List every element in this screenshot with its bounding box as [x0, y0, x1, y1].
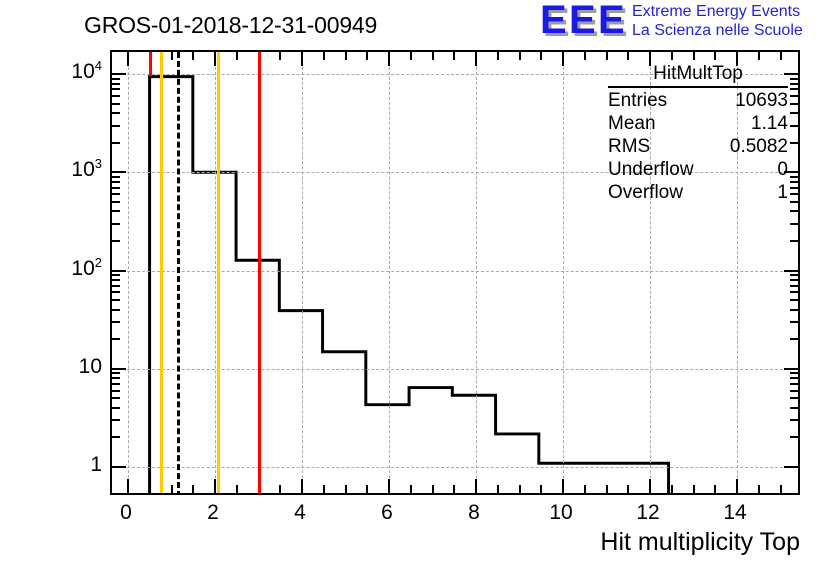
- x-axis-minor-tick: [671, 485, 673, 493]
- y-axis-minor-tick: [790, 279, 798, 281]
- x-axis-major-tick: [127, 479, 129, 493]
- x-axis-minor-tick: [345, 485, 347, 493]
- stats-row: Underflow0: [608, 158, 788, 181]
- y-axis-tick-label: 10: [79, 356, 102, 378]
- gridline-vertical: [389, 52, 390, 493]
- eee-letter-3-fore: E: [598, 3, 624, 37]
- red-line-left: [149, 52, 152, 76]
- y-axis-minor-tick: [790, 274, 798, 276]
- y-axis-minor-tick: [112, 377, 120, 379]
- x-axis-minor-tick: [410, 52, 412, 60]
- y-axis-minor-tick: [790, 383, 798, 385]
- y-axis-minor-tick: [112, 142, 120, 144]
- stats-row-key: Mean: [608, 112, 656, 135]
- x-axis-minor-tick: [519, 485, 521, 493]
- x-axis-minor-tick: [149, 485, 151, 493]
- stats-row-value: 0: [777, 158, 788, 181]
- gridline-vertical: [302, 52, 303, 493]
- plot-canvas: GROS-01-2018-12-31-00949 E E E E E E Ext…: [0, 0, 836, 572]
- eee-letter-1: E E: [540, 3, 565, 37]
- x-axis-tick-label: 10: [549, 502, 572, 524]
- y-axis-minor-tick: [112, 285, 120, 287]
- y-axis-minor-tick: [112, 112, 120, 114]
- y-axis-minor-tick: [790, 240, 798, 242]
- y-axis-minor-tick: [112, 83, 120, 85]
- x-axis-minor-tick: [453, 485, 455, 493]
- y-axis-minor-tick: [112, 291, 120, 293]
- y-axis-minor-tick: [790, 142, 798, 144]
- eee-letter-2-fore: E: [569, 3, 595, 37]
- y-axis-minor-tick: [790, 181, 798, 183]
- y-axis-minor-tick: [790, 112, 798, 114]
- eee-letter-1-fore: E: [540, 3, 566, 37]
- y-axis-minor-tick: [790, 407, 798, 409]
- y-axis-tick-label: 103: [71, 159, 102, 181]
- x-axis-minor-tick: [236, 485, 238, 493]
- y-axis-minor-tick: [112, 201, 120, 203]
- y-axis-minor-tick: [790, 377, 798, 379]
- y-axis-minor-tick: [112, 309, 120, 311]
- eee-logo-text: Extreme Energy Events La Scienza nelle S…: [632, 2, 803, 40]
- x-axis-minor-tick: [497, 485, 499, 493]
- x-axis-minor-tick: [693, 52, 695, 60]
- y-axis-tick-label: 1: [90, 454, 102, 476]
- y-axis-major-tick: [112, 466, 126, 468]
- x-axis-minor-tick: [323, 52, 325, 60]
- y-axis-major-tick: [112, 270, 126, 272]
- y-axis-minor-tick: [790, 83, 798, 85]
- x-axis-major-tick: [736, 479, 738, 493]
- y-axis-minor-tick: [790, 201, 798, 203]
- y-axis-minor-tick: [112, 321, 120, 323]
- y-axis-minor-tick: [112, 78, 120, 80]
- y-axis-minor-tick: [790, 419, 798, 421]
- y-axis-minor-tick: [112, 419, 120, 421]
- stats-row: RMS0.5082: [608, 135, 788, 158]
- y-axis-minor-tick: [112, 279, 120, 281]
- stats-row-value: 0.5082: [730, 135, 788, 158]
- gridline-vertical: [128, 52, 129, 493]
- y-axis-minor-tick: [112, 240, 120, 242]
- x-axis-tick-label: 6: [381, 502, 393, 524]
- x-axis-minor-tick: [693, 485, 695, 493]
- x-axis-tick-label: 12: [636, 502, 659, 524]
- stats-row: Entries10693: [608, 89, 788, 112]
- x-axis-minor-tick: [323, 485, 325, 493]
- stats-row: Overflow1: [608, 181, 788, 204]
- x-axis-major-tick: [649, 479, 651, 493]
- y-axis-minor-tick: [112, 193, 120, 195]
- x-axis-minor-tick: [366, 485, 368, 493]
- x-axis-tick-label: 2: [207, 502, 219, 524]
- x-axis-minor-tick: [671, 52, 673, 60]
- x-axis-minor-tick: [432, 52, 434, 60]
- gold-line-left: [160, 52, 163, 493]
- y-axis-minor-tick: [790, 78, 798, 80]
- x-axis-minor-tick: [758, 52, 760, 60]
- x-axis-minor-tick: [497, 52, 499, 60]
- x-axis-minor-tick: [432, 485, 434, 493]
- x-axis-minor-tick: [171, 485, 173, 493]
- eee-letter-2: E E: [569, 3, 594, 37]
- y-axis-minor-tick: [790, 397, 798, 399]
- gridline-vertical: [476, 52, 477, 493]
- y-axis-minor-tick: [790, 291, 798, 293]
- y-axis-minor-tick: [790, 436, 798, 438]
- x-axis-minor-tick: [627, 52, 629, 60]
- y-axis-minor-tick: [790, 88, 798, 90]
- stats-row-value: 1: [777, 181, 788, 204]
- y-axis-minor-tick: [112, 407, 120, 409]
- y-axis-minor-tick: [790, 193, 798, 195]
- y-axis-tick-label: 102: [71, 258, 102, 280]
- eee-logo: E E E E E E Extreme Energy Events La Sci…: [540, 2, 832, 40]
- x-axis-title: Hit multiplicity Top: [600, 528, 800, 556]
- y-axis-minor-tick: [112, 397, 120, 399]
- x-axis-minor-tick: [366, 52, 368, 60]
- y-axis-minor-tick: [112, 95, 120, 97]
- x-axis-tick-label: 4: [294, 502, 306, 524]
- x-axis-minor-tick: [192, 52, 194, 60]
- eee-letter-3: E E: [598, 3, 623, 37]
- y-axis-minor-tick: [790, 338, 798, 340]
- eee-logo-line1: Extreme Energy Events: [632, 3, 800, 20]
- x-axis-major-tick: [562, 479, 564, 493]
- red-line-right: [258, 52, 261, 493]
- y-axis-major-tick: [112, 368, 126, 370]
- x-axis-minor-tick: [606, 485, 608, 493]
- y-axis-minor-tick: [790, 187, 798, 189]
- x-axis-minor-tick: [279, 52, 281, 60]
- y-axis-minor-tick: [112, 88, 120, 90]
- y-axis-major-tick: [784, 368, 798, 370]
- x-axis-major-tick: [388, 52, 390, 66]
- gridline-vertical: [563, 52, 564, 493]
- y-axis-minor-tick: [112, 181, 120, 183]
- y-axis-minor-tick: [112, 436, 120, 438]
- y-axis-minor-tick: [790, 103, 798, 105]
- x-axis-minor-tick: [714, 52, 716, 60]
- y-axis-minor-tick: [790, 390, 798, 392]
- x-axis-minor-tick: [410, 485, 412, 493]
- x-axis-minor-tick: [540, 52, 542, 60]
- y-axis-minor-tick: [790, 372, 798, 374]
- y-axis-minor-tick: [790, 309, 798, 311]
- x-axis-minor-tick: [606, 52, 608, 60]
- y-axis-major-tick: [112, 73, 126, 75]
- x-axis-minor-tick: [584, 52, 586, 60]
- gridline-vertical: [215, 52, 216, 493]
- y-axis-minor-tick: [790, 223, 798, 225]
- x-axis-major-tick: [388, 479, 390, 493]
- x-axis-major-tick: [562, 52, 564, 66]
- x-axis-tick-label: 8: [468, 502, 480, 524]
- eee-logo-mark: E E E E E E: [540, 3, 626, 37]
- x-axis-minor-tick: [171, 52, 173, 60]
- x-axis-minor-tick: [758, 485, 760, 493]
- black-dashed-mean: [177, 52, 180, 493]
- y-axis-minor-tick: [112, 103, 120, 105]
- y-axis-tick-label: 104: [71, 61, 102, 83]
- y-axis-minor-tick: [112, 176, 120, 178]
- y-axis-minor-tick: [790, 321, 798, 323]
- y-axis-minor-tick: [112, 338, 120, 340]
- x-axis-minor-tick: [780, 485, 782, 493]
- x-axis-major-tick: [301, 52, 303, 66]
- y-axis-major-tick: [784, 466, 798, 468]
- x-axis-minor-tick: [627, 485, 629, 493]
- stats-rows: Entries10693Mean1.14RMS0.5082Underflow0O…: [608, 89, 788, 204]
- x-axis-tick-label: 0: [120, 502, 132, 524]
- stats-row-key: Overflow: [608, 181, 683, 204]
- x-axis-minor-tick: [453, 52, 455, 60]
- eee-logo-line2: La Scienza nelle Scuole: [632, 21, 803, 40]
- y-axis-major-tick: [784, 270, 798, 272]
- gold-line-right: [217, 52, 220, 493]
- x-axis-tick-label: 14: [723, 502, 746, 524]
- stats-row-value: 10693: [735, 89, 788, 112]
- stats-row: Mean1.14: [608, 112, 788, 135]
- y-axis-minor-tick: [112, 210, 120, 212]
- x-axis-minor-tick: [714, 485, 716, 493]
- y-axis-minor-tick: [112, 372, 120, 374]
- x-axis-major-tick: [214, 52, 216, 66]
- y-axis-minor-tick: [112, 383, 120, 385]
- y-axis-minor-tick: [790, 285, 798, 287]
- y-axis-minor-tick: [112, 187, 120, 189]
- y-axis-major-tick: [112, 171, 126, 173]
- x-axis-minor-tick: [345, 52, 347, 60]
- y-axis-minor-tick: [790, 125, 798, 127]
- y-axis-minor-tick: [790, 95, 798, 97]
- x-axis-minor-tick: [519, 52, 521, 60]
- gridline-horizontal: [112, 467, 798, 468]
- x-axis-major-tick: [475, 52, 477, 66]
- stats-row-value: 1.14: [751, 112, 788, 135]
- y-axis-minor-tick: [112, 125, 120, 127]
- x-axis-minor-tick: [540, 485, 542, 493]
- stats-row-key: Underflow: [608, 158, 694, 181]
- x-axis-major-tick: [214, 479, 216, 493]
- y-axis-minor-tick: [790, 299, 798, 301]
- x-axis-minor-tick: [584, 485, 586, 493]
- x-axis-major-tick: [475, 479, 477, 493]
- y-axis-minor-tick: [112, 390, 120, 392]
- stats-row-key: Entries: [608, 89, 667, 112]
- stats-box: HitMultTop Entries10693Mean1.14RMS0.5082…: [608, 62, 788, 204]
- gridline-horizontal: [112, 271, 798, 272]
- y-axis-minor-tick: [112, 299, 120, 301]
- stats-row-key: RMS: [608, 135, 650, 158]
- y-axis-minor-tick: [112, 223, 120, 225]
- x-axis-minor-tick: [780, 52, 782, 60]
- x-axis-minor-tick: [192, 485, 194, 493]
- y-axis-minor-tick: [112, 274, 120, 276]
- gridline-horizontal: [112, 369, 798, 370]
- y-axis-minor-tick: [790, 176, 798, 178]
- x-axis-minor-tick: [279, 485, 281, 493]
- x-axis-major-tick: [127, 52, 129, 66]
- x-axis-major-tick: [301, 479, 303, 493]
- page-title: GROS-01-2018-12-31-00949: [84, 12, 377, 38]
- x-axis-minor-tick: [236, 52, 238, 60]
- stats-title: HitMultTop: [608, 62, 788, 88]
- y-axis-minor-tick: [790, 210, 798, 212]
